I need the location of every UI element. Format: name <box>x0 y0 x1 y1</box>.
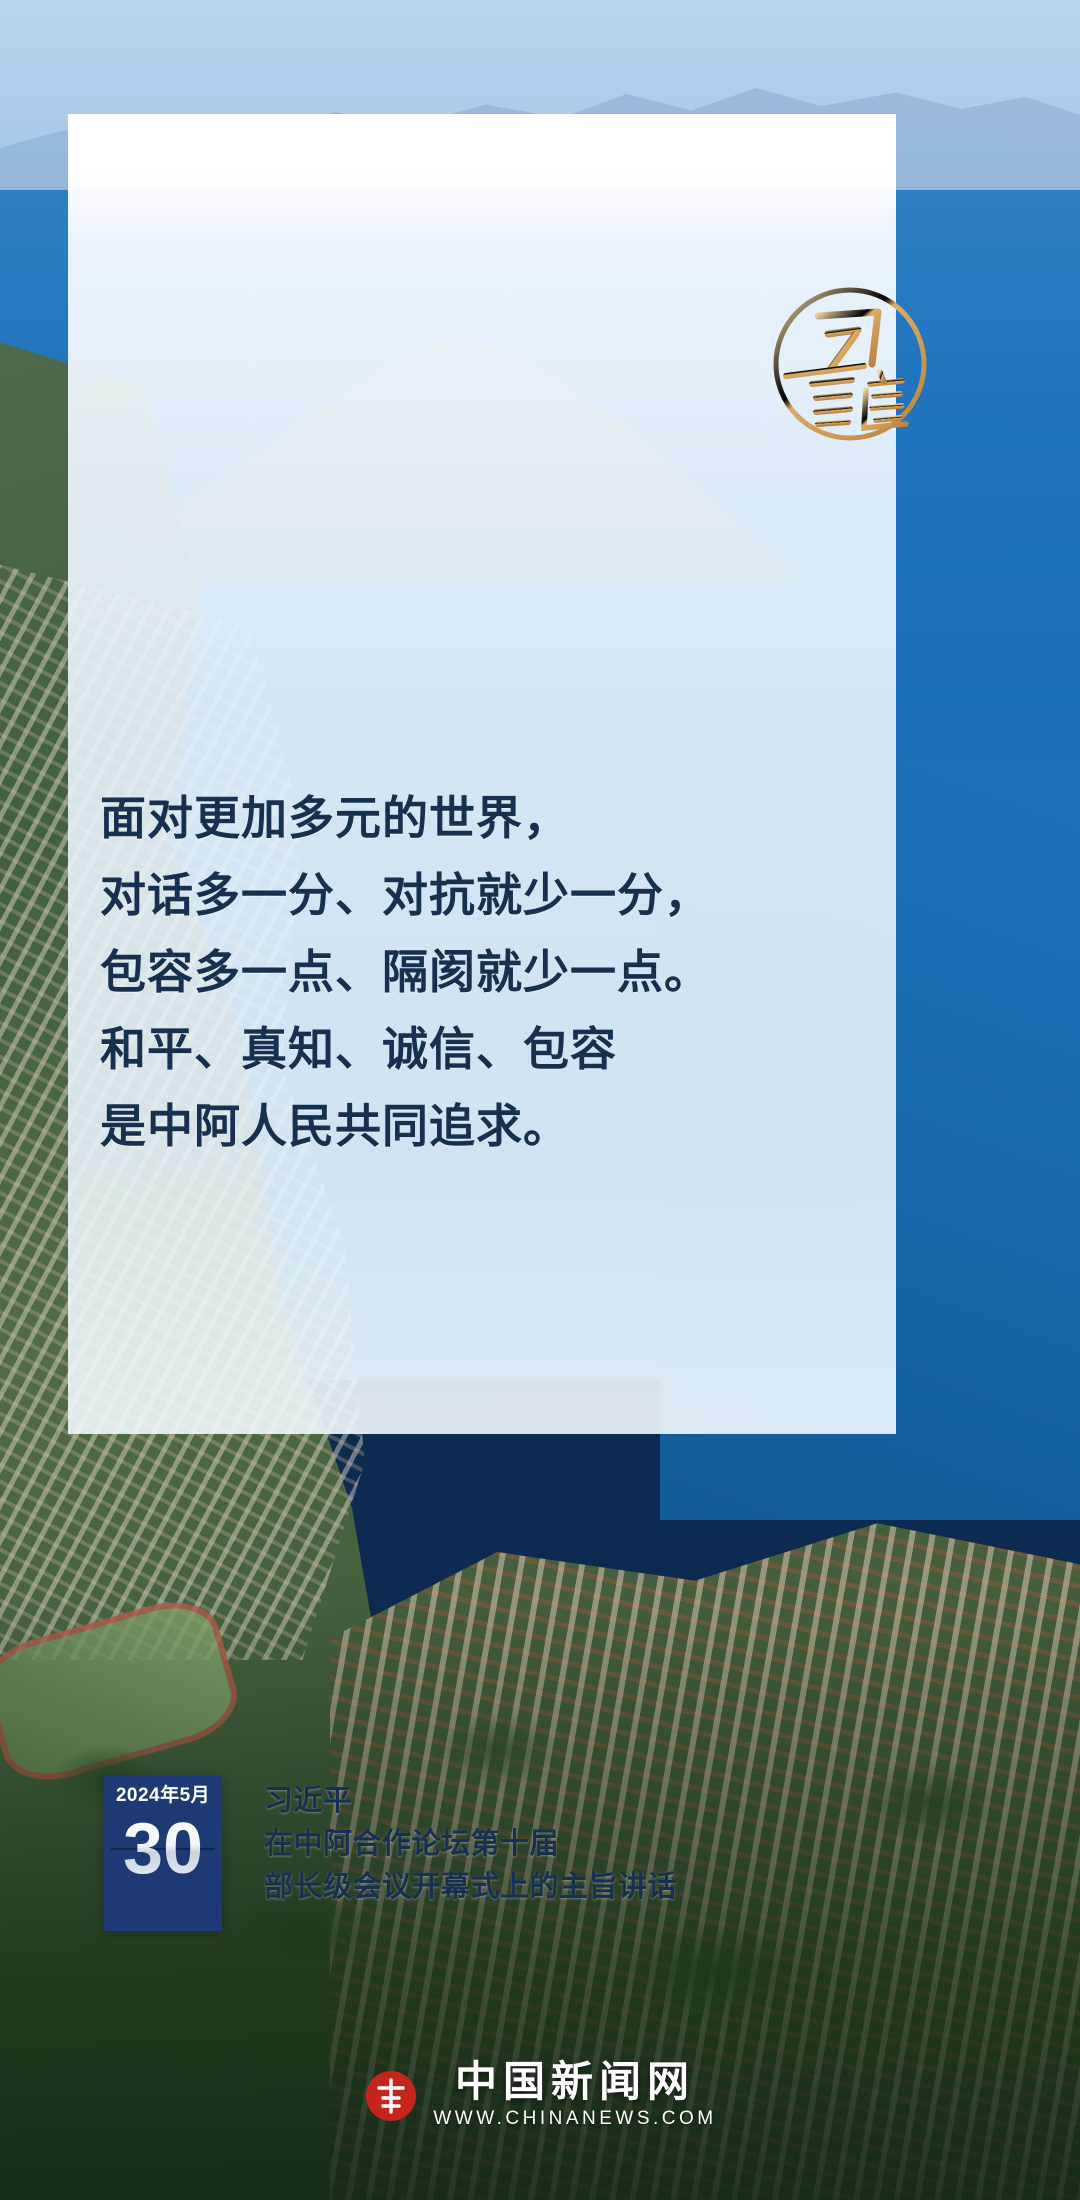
poster: 面对更加多元的世界， 对话多一分、对抗就少一分， 包容多一点、隔阂就少一点。 和… <box>0 0 1080 2200</box>
date-year-month: 2024年5月 <box>116 1784 210 1808</box>
attribution-line: 在中阿合作论坛第十届 <box>264 1823 677 1866</box>
chinanews-cns-logo-icon <box>363 2068 419 2124</box>
credit-block: 2024年5月 30 习近平 在中阿合作论坛第十届 部长级会议开幕式上的主旨讲话 <box>104 1776 677 1931</box>
watermark: 中国新闻网 WWW.CHINANEWS.COM <box>0 2060 1080 2132</box>
quote-line: 和平、真知、诚信、包容 <box>100 1011 760 1088</box>
date-badge: 2024年5月 30 <box>104 1776 222 1931</box>
attribution-line: 部长级会议开幕式上的主旨讲话 <box>264 1866 677 1909</box>
attribution-text: 习近平 在中阿合作论坛第十届 部长级会议开幕式上的主旨讲话 <box>264 1776 677 1909</box>
xi-yan-dao-seal-icon <box>760 272 940 452</box>
quote-line: 包容多一点、隔阂就少一点。 <box>100 934 760 1011</box>
date-day: 30 <box>123 1812 203 1886</box>
quote-text: 面对更加多元的世界， 对话多一分、对抗就少一分， 包容多一点、隔阂就少一点。 和… <box>100 780 760 1165</box>
quote-line: 面对更加多元的世界， <box>100 780 760 857</box>
quote-line: 对话多一分、对抗就少一分， <box>100 857 760 934</box>
quote-line: 是中阿人民共同追求。 <box>100 1088 760 1165</box>
attribution-speaker: 习近平 <box>264 1780 677 1823</box>
watermark-site-name: 中国新闻网 <box>455 2060 695 2106</box>
card-top-band <box>68 114 896 156</box>
watermark-url: WWW.CHINANEWS.COM <box>433 2106 716 2132</box>
